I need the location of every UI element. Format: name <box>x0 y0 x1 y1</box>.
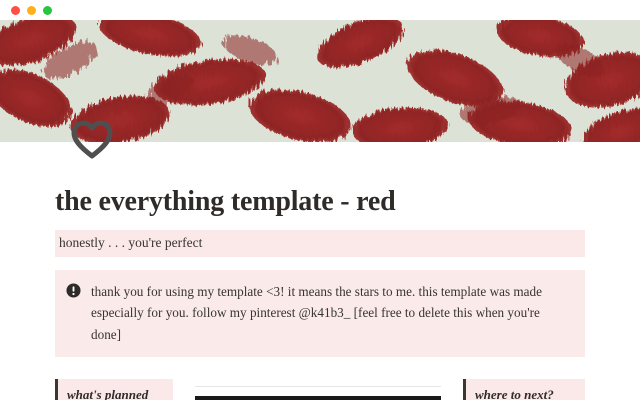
dark-dial-embed[interactable] <box>195 396 441 400</box>
content-column: the everything template - red honestly .… <box>55 142 585 400</box>
callout-block[interactable]: thank you for using my template <3! it m… <box>55 270 585 357</box>
page-title: the everything template - red <box>55 185 585 219</box>
callout-text: thank you for using my template <3! it m… <box>91 281 571 345</box>
heart-icon[interactable] <box>70 118 114 160</box>
page-subtitle: honestly . . . you're perfect <box>55 230 585 257</box>
column-right: where to next? school <box>463 379 585 400</box>
heart-glyph <box>70 118 114 160</box>
column-left: what's planned for today? <box>55 379 173 400</box>
divider <box>195 386 441 387</box>
quote-where-next[interactable]: where to next? <box>463 379 585 400</box>
close-button[interactable] <box>11 6 20 15</box>
maximize-button[interactable] <box>43 6 52 15</box>
column-middle <box>173 379 463 400</box>
dial-graphic <box>195 396 441 400</box>
page-body: the everything template - red honestly .… <box>0 142 640 400</box>
three-column-layout: what's planned for today? <box>55 379 585 400</box>
info-glyph <box>66 283 81 298</box>
minimize-button[interactable] <box>27 6 36 15</box>
quote-planned-today[interactable]: what's planned for today? <box>55 379 173 400</box>
browser-window: the everything template - red honestly .… <box>0 0 640 400</box>
window-titlebar <box>0 0 640 20</box>
info-exclamation-icon <box>66 283 81 298</box>
